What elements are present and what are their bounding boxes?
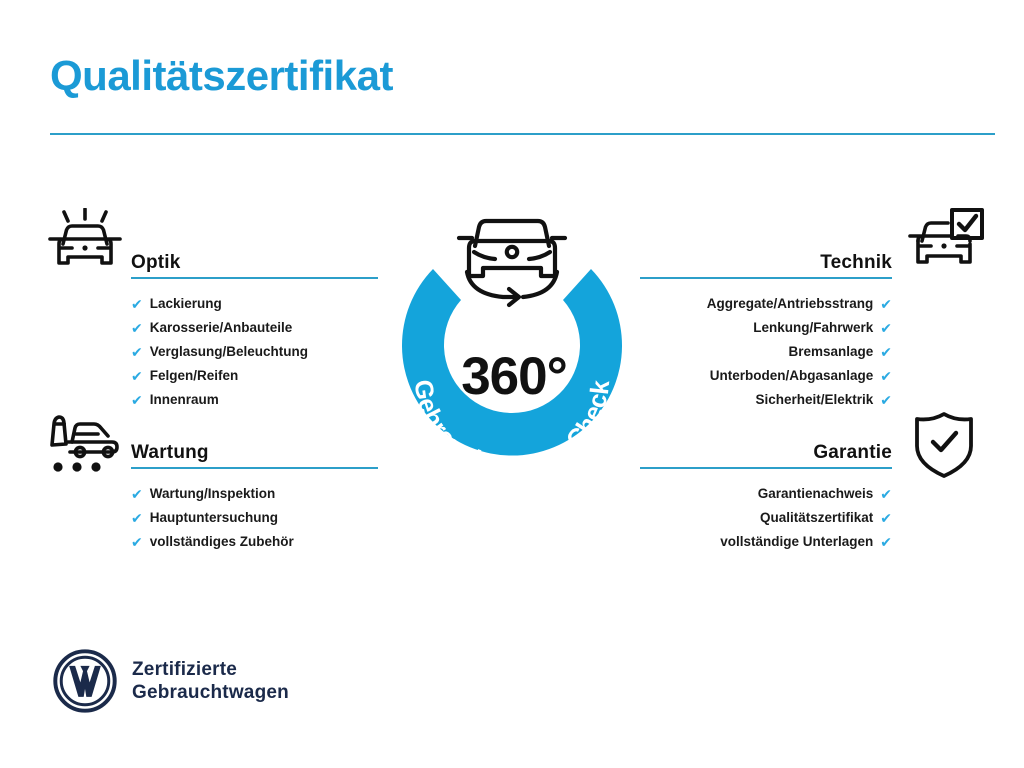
section-wartung-divider — [131, 467, 378, 469]
section-garantie-divider — [640, 467, 892, 469]
list-item: Sicherheit/Elektrik ✔ — [640, 388, 892, 412]
list-item: vollständige Unterlagen ✔ — [640, 530, 892, 554]
check-icon: ✔ — [131, 321, 143, 335]
check-icon: ✔ — [131, 297, 143, 311]
section-technik-divider — [640, 277, 892, 279]
list-item-label: Hauptuntersuchung — [150, 506, 278, 530]
list-item: Qualitätszertifikat ✔ — [640, 506, 892, 530]
list-item: ✔ Hauptuntersuchung — [131, 506, 378, 530]
title-divider — [50, 133, 995, 135]
section-optik-heading: Optik — [131, 252, 181, 274]
section-garantie-items: Garantienachweis ✔ Qualitätszertifikat ✔… — [640, 482, 892, 554]
footer-brand-text: Zertifizierte Gebrauchtwagen — [132, 658, 289, 704]
footer-line-2: Gebrauchtwagen — [132, 681, 289, 704]
car-front-checkbox-icon — [908, 208, 984, 277]
check-icon: ✔ — [880, 393, 892, 407]
section-technik: Technik Aggregate/Antriebsstrang ✔ Lenku… — [640, 240, 892, 412]
check-icon: ✔ — [880, 297, 892, 311]
check-icon: ✔ — [131, 511, 143, 525]
check-icon: ✔ — [880, 321, 892, 335]
volkswagen-logo — [52, 648, 118, 714]
section-wartung-items: ✔ Wartung/Inspektion ✔ Hauptuntersuchung… — [131, 482, 378, 554]
list-item-label: Lackierung — [150, 292, 222, 316]
list-item-label: vollständiges Zubehör — [150, 530, 294, 554]
check-icon: ✔ — [131, 393, 143, 407]
section-garantie-header: Garantie — [640, 430, 892, 468]
section-optik-header: Optik — [131, 240, 378, 278]
check-icon: ✔ — [880, 535, 892, 549]
section-optik-divider — [131, 277, 378, 279]
check-icon: ✔ — [880, 369, 892, 383]
shield-check-icon — [912, 410, 976, 485]
certificate-page: Qualitätszertifikat Optik ✔ Lackierung — [0, 0, 1024, 768]
check-icon: ✔ — [131, 345, 143, 359]
check-icon: ✔ — [880, 511, 892, 525]
page-title: Qualitätszertifikat — [50, 52, 393, 100]
list-item-label: vollständige Unterlagen — [720, 530, 873, 554]
list-item-label: Unterboden/Abgasanlage — [710, 364, 874, 388]
section-wartung-header: Wartung — [131, 430, 378, 468]
list-item-label: Felgen/Reifen — [150, 364, 239, 388]
check-icon: ✔ — [880, 345, 892, 359]
section-technik-header: Technik — [640, 240, 892, 278]
list-item: ✔ Karosserie/Anbauteile — [131, 316, 378, 340]
list-item-label: Bremsanlage — [788, 340, 873, 364]
list-item-label: Aggregate/Antriebsstrang — [707, 292, 874, 316]
check-icon: ✔ — [880, 487, 892, 501]
360-check-badge: Gebrauchtwagen-Check 360° — [371, 196, 653, 486]
check-icon: ✔ — [131, 369, 143, 383]
list-item: Aggregate/Antriebsstrang ✔ — [640, 292, 892, 316]
section-technik-heading: Technik — [820, 252, 892, 274]
section-technik-items: Aggregate/Antriebsstrang ✔ Lenkung/Fahrw… — [640, 292, 892, 412]
list-item-label: Garantienachweis — [758, 482, 874, 506]
list-item-label: Innenraum — [150, 388, 219, 412]
check-icon: ✔ — [131, 487, 143, 501]
list-item: ✔ vollständiges Zubehör — [131, 530, 378, 554]
car-service-lift-icon — [46, 412, 126, 479]
list-item: Unterboden/Abgasanlage ✔ — [640, 364, 892, 388]
section-wartung-heading: Wartung — [131, 442, 209, 464]
section-optik: Optik ✔ Lackierung ✔ Karosserie/Anbautei… — [131, 240, 378, 412]
list-item: ✔ Innenraum — [131, 388, 378, 412]
list-item-label: Wartung/Inspektion — [150, 482, 276, 506]
section-wartung: Wartung ✔ Wartung/Inspektion ✔ Hauptunte… — [131, 430, 378, 554]
list-item: Bremsanlage ✔ — [640, 340, 892, 364]
list-item-label: Sicherheit/Elektrik — [755, 388, 873, 412]
car-front-shine-icon — [46, 208, 124, 279]
footer-line-1: Zertifizierte — [132, 658, 289, 681]
list-item-label: Qualitätszertifikat — [760, 506, 873, 530]
list-item-label: Verglasung/Beleuchtung — [150, 340, 308, 364]
list-item: ✔ Wartung/Inspektion — [131, 482, 378, 506]
car-front-rotate-icon — [459, 221, 565, 305]
list-item: ✔ Felgen/Reifen — [131, 364, 378, 388]
list-item: Lenkung/Fahrwerk ✔ — [640, 316, 892, 340]
list-item-label: Karosserie/Anbauteile — [150, 316, 293, 340]
section-optik-items: ✔ Lackierung ✔ Karosserie/Anbauteile ✔ V… — [131, 292, 378, 412]
section-garantie: Garantie Garantienachweis ✔ Qualitätszer… — [640, 430, 892, 554]
check-icon: ✔ — [131, 535, 143, 549]
section-garantie-heading: Garantie — [813, 442, 892, 464]
list-item: Garantienachweis ✔ — [640, 482, 892, 506]
list-item: ✔ Verglasung/Beleuchtung — [131, 340, 378, 364]
list-item-label: Lenkung/Fahrwerk — [753, 316, 873, 340]
list-item: ✔ Lackierung — [131, 292, 378, 316]
footer-brand: Zertifizierte Gebrauchtwagen — [52, 648, 289, 714]
